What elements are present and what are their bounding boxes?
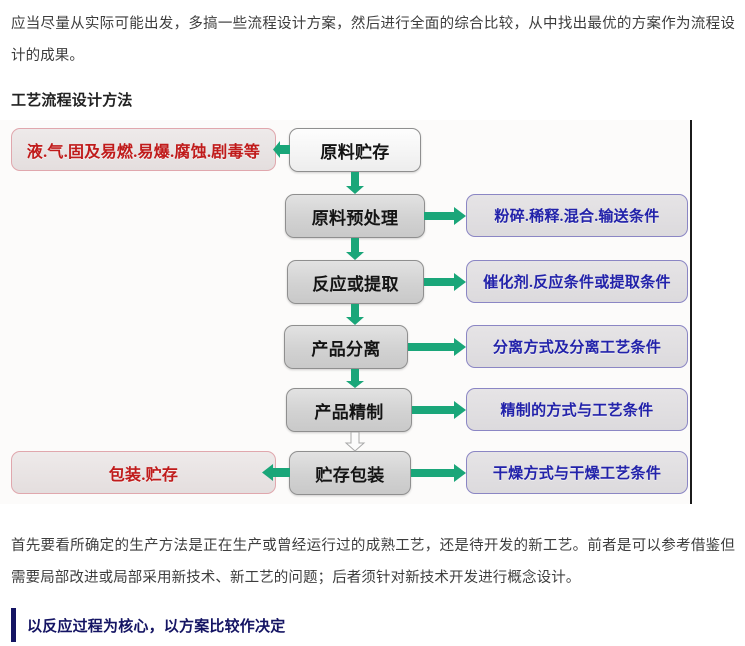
arrow-down-reaction-to-separation bbox=[345, 304, 365, 326]
arrow-right-separation-to-conditions bbox=[408, 337, 467, 357]
flow-node-reaction-extraction: 反应或提取 bbox=[287, 260, 424, 304]
flow-node-product-refining: 产品精制 bbox=[286, 388, 412, 432]
arrow-down-separation-to-refining bbox=[345, 369, 365, 389]
arrow-left-storage-to-hazards bbox=[272, 140, 291, 159]
flow-node-storage-packaging: 贮存包装 bbox=[289, 451, 411, 495]
flow-node-refining-conditions: 精制的方式与工艺条件 bbox=[466, 388, 688, 431]
intro-paragraph: 应当尽量从实际可能出发，多搞一些流程设计方案，然后进行全面的综合比较，从中找出最… bbox=[11, 8, 735, 72]
flow-node-hazard-classes: 液.气.固及易燃.易爆.腐蚀.剧毒等 bbox=[11, 128, 276, 171]
flow-node-reaction-conditions: 催化剂.反应条件或提取条件 bbox=[466, 260, 688, 303]
arrow-right-pretreatment-to-conditions bbox=[424, 206, 467, 226]
flow-node-pretreatment-conditions: 粉碎.稀释.混合.输送条件 bbox=[466, 194, 688, 237]
arrow-right-refining-to-conditions bbox=[412, 400, 467, 420]
flow-node-separation-conditions: 分离方式及分离工艺条件 bbox=[466, 325, 688, 368]
arrow-left-packaging-to-storage bbox=[261, 463, 291, 482]
callout-heading-text: 以反应过程为核心，以方案比较作决定 bbox=[27, 615, 285, 636]
arrow-right-packaging-to-drying-conditions bbox=[411, 463, 467, 483]
process-flowchart-figure: 液.气.固及易燃.易爆.腐蚀.剧毒等 包装.贮存 原料贮存 原料预处理 反应或提… bbox=[0, 120, 692, 504]
arrow-right-reaction-to-conditions bbox=[424, 272, 467, 292]
callout-accent-bar bbox=[11, 608, 16, 642]
flow-node-packaging-storage: 包装.贮存 bbox=[11, 451, 276, 494]
flow-node-raw-material-storage: 原料贮存 bbox=[289, 128, 421, 172]
arrow-down-pretreatment-to-reaction bbox=[345, 238, 365, 261]
arrow-down-refining-to-packaging bbox=[344, 432, 366, 452]
callout-heading: 以反应过程为核心，以方案比较作决定 bbox=[11, 608, 285, 642]
flow-node-drying-conditions: 干燥方式与干燥工艺条件 bbox=[466, 451, 688, 494]
flow-node-product-separation: 产品分离 bbox=[284, 325, 408, 369]
closing-paragraph: 首先要看所确定的生产方法是正在生产或曾经运行过的成熟工艺，还是待开发的新工艺。前… bbox=[11, 530, 735, 594]
flow-node-raw-material-pretreatment: 原料预处理 bbox=[285, 194, 425, 238]
section-heading-method: 工艺流程设计方法 bbox=[11, 89, 133, 110]
arrow-down-storage-to-pretreatment bbox=[345, 172, 365, 195]
